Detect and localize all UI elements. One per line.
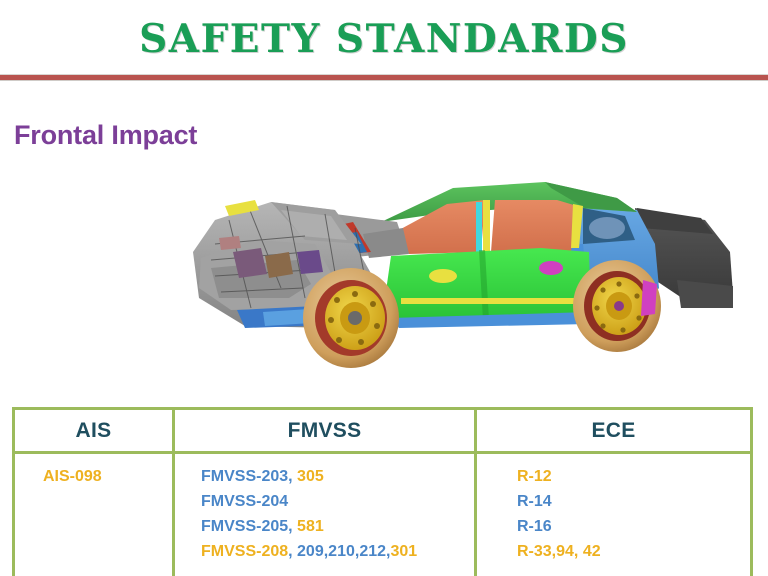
standard-token: , 209,210,212, xyxy=(288,543,390,560)
crash-simulation-image xyxy=(185,148,755,388)
standard-token: FMVSS-204 xyxy=(201,493,288,510)
standards-table: AIS FMVSS ECE AIS-098 FMVSS-203, 305FMVS… xyxy=(12,407,753,576)
standard-token: R-14 xyxy=(517,493,552,510)
cell-fmvss: FMVSS-203, 305FMVSS-204FMVSS-205, 581FMV… xyxy=(174,453,476,576)
standard-line: R-14 xyxy=(517,489,750,514)
column-header-ece: ECE xyxy=(476,409,752,453)
standard-token: 301 xyxy=(390,543,417,560)
cell-ais: AIS-098 xyxy=(14,453,174,576)
title-divider-rule xyxy=(0,74,768,81)
cell-ece: R-12R-14R-16R-33,94, 42 xyxy=(476,453,752,576)
page-title: SAFETY STANDARDS xyxy=(0,16,768,62)
standard-token: R-16 xyxy=(517,518,552,535)
standard-token: FMVSS-203, xyxy=(201,468,293,485)
standard-line: FMVSS-205, 581 xyxy=(201,514,474,539)
standard-token: AIS-098 xyxy=(43,468,102,485)
standard-token: R-33,94, 42 xyxy=(517,543,601,560)
standard-token: 581 xyxy=(297,518,324,535)
slide-canvas: SAFETY STANDARDS Frontal Impact xyxy=(0,0,768,576)
standard-line: R-33,94, 42 xyxy=(517,539,750,564)
section-subtitle: Frontal Impact xyxy=(14,118,197,152)
table-header-row: AIS FMVSS ECE xyxy=(14,409,752,453)
standard-line: R-16 xyxy=(517,514,750,539)
standard-line: FMVSS-208, 209,210,212,301 xyxy=(201,539,474,564)
fmvss-standards-list: FMVSS-203, 305FMVSS-204FMVSS-205, 581FMV… xyxy=(175,464,474,564)
standard-line: R-12 xyxy=(517,464,750,489)
standard-line: AIS-098 xyxy=(43,464,172,489)
standard-line: FMVSS-203, 305 xyxy=(201,464,474,489)
table-row: AIS-098 FMVSS-203, 305FMVSS-204FMVSS-205… xyxy=(14,453,752,576)
column-header-fmvss: FMVSS xyxy=(174,409,476,453)
ais-standards-list: AIS-098 xyxy=(15,464,172,489)
standard-token: R-12 xyxy=(517,468,552,485)
standard-token: 305 xyxy=(297,468,324,485)
standard-line: FMVSS-204 xyxy=(201,489,474,514)
standard-token: FMVSS-205, xyxy=(201,518,293,535)
column-header-ais: AIS xyxy=(14,409,174,453)
standard-token: FMVSS-208 xyxy=(201,543,288,560)
ece-standards-list: R-12R-14R-16R-33,94, 42 xyxy=(477,464,750,564)
